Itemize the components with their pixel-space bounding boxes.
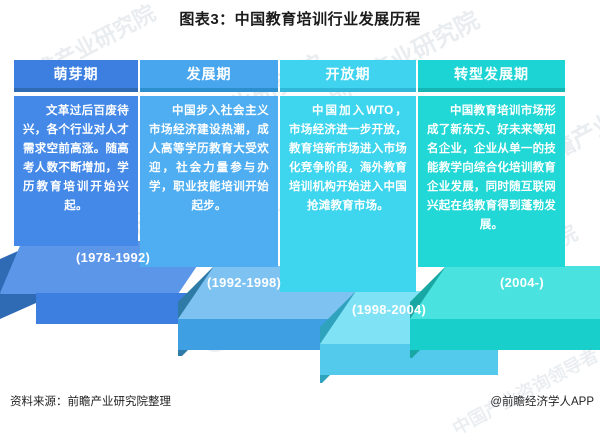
stage-4-body: 中国教育培训市场形成了新东方、好未来等知名企业，企业从单一的技能教学向综合化培训… bbox=[427, 102, 556, 235]
stage-3-header: 开放期 bbox=[280, 60, 416, 88]
stage-2-header-label: 发展期 bbox=[187, 66, 232, 82]
stage-2-period: (1992-1998) bbox=[207, 275, 281, 290]
stage-3-panel: 中国加入WTO，市场经济进一步开放，教育培新市场进入市场化竞争阶段，海外教育培训… bbox=[280, 96, 416, 292]
stage-3-header-label: 开放期 bbox=[326, 66, 371, 82]
stage-3-period: (1998-2004) bbox=[352, 302, 426, 317]
stage-1-header-label: 萌芽期 bbox=[54, 66, 99, 82]
header-underline-1 bbox=[14, 88, 138, 92]
stage-4-header-label: 转型发展期 bbox=[454, 66, 529, 82]
header-underline-2 bbox=[140, 88, 278, 92]
stage-1-body: 文革过后百废待兴，各个行业对人才需求空前高涨。随高考人数不断增加，学历教育培训开… bbox=[23, 102, 129, 216]
stage-1-header: 萌芽期 bbox=[14, 60, 138, 88]
stage-4-period: (2004-) bbox=[500, 275, 544, 290]
header-underline-4 bbox=[418, 88, 565, 92]
stage-4-header: 转型发展期 bbox=[418, 60, 565, 88]
stage-4-front-face bbox=[410, 319, 600, 350]
header-underline-3 bbox=[280, 88, 416, 92]
stage-3-body: 中国加入WTO，市场经济进一步开放，教育培新市场进入市场化竞争阶段，海外教育培训… bbox=[289, 102, 407, 216]
source-note: 资料来源：前瞻产业研究院整理 bbox=[10, 393, 171, 409]
stage-2-panel: 中国步入社会主义市场经济建设热潮，成人高等学历教育大受欢迎，社会力量参与办学，职… bbox=[140, 96, 278, 267]
stage-4-panel: 中国教育培训市场形成了新东方、好未来等知名企业，企业从单一的技能教学向综合化培训… bbox=[418, 96, 565, 267]
timeline-staircase: 萌芽期 发展期 开放期 转型发展期 文革过后百废待兴，各个行业对人才需求空前高涨… bbox=[0, 0, 600, 433]
stage-1-panel: 文革过后百废待兴，各个行业对人才需求空前高涨。随高考人数不断增加，学历教育培训开… bbox=[14, 96, 138, 246]
stage-2-header: 发展期 bbox=[140, 60, 278, 88]
stage-1-period: (1978-1992) bbox=[76, 250, 150, 265]
stage-2-body: 中国步入社会主义市场经济建设热潮，成人高等学历教育大受欢迎，社会力量参与办学，职… bbox=[149, 102, 269, 216]
